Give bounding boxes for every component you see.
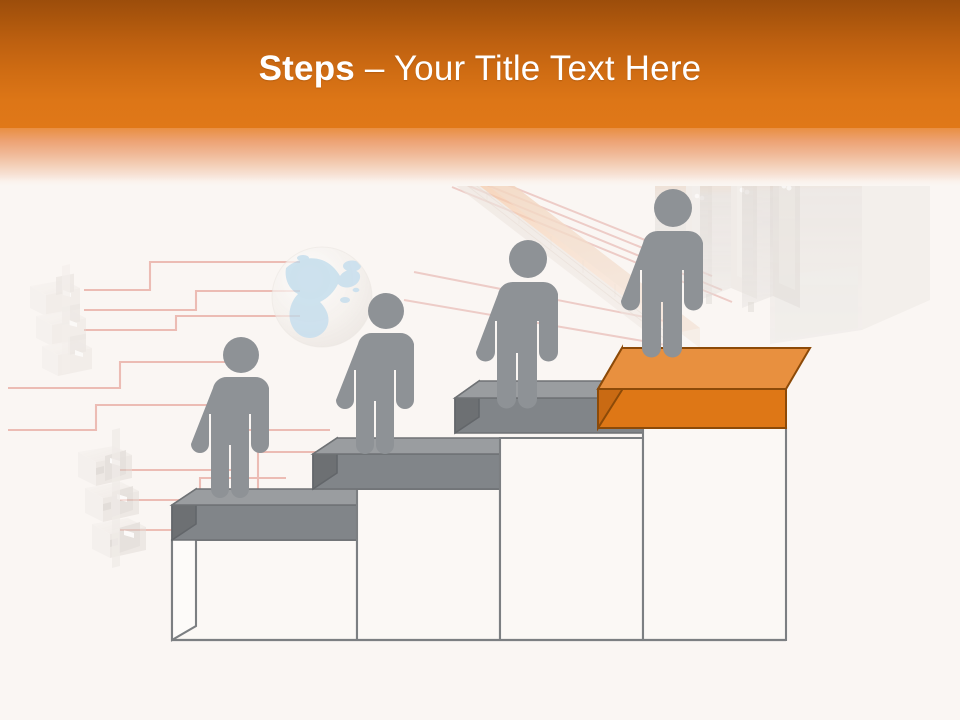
person-step-1[interactable] bbox=[191, 337, 269, 498]
person-step-4[interactable] bbox=[621, 189, 703, 358]
header-gradient-fade bbox=[0, 128, 960, 186]
page-title-emphasis: Steps bbox=[259, 49, 355, 88]
person-step-2[interactable] bbox=[336, 293, 414, 454]
page-title-rest: Your Title Text Here bbox=[394, 49, 702, 88]
page-title-separator: – bbox=[355, 49, 394, 88]
slide-canvas: Steps – Your Title Text Here bbox=[0, 0, 960, 720]
page-title: Steps – Your Title Text Here bbox=[0, 47, 960, 91]
person-step-3[interactable] bbox=[476, 240, 558, 409]
